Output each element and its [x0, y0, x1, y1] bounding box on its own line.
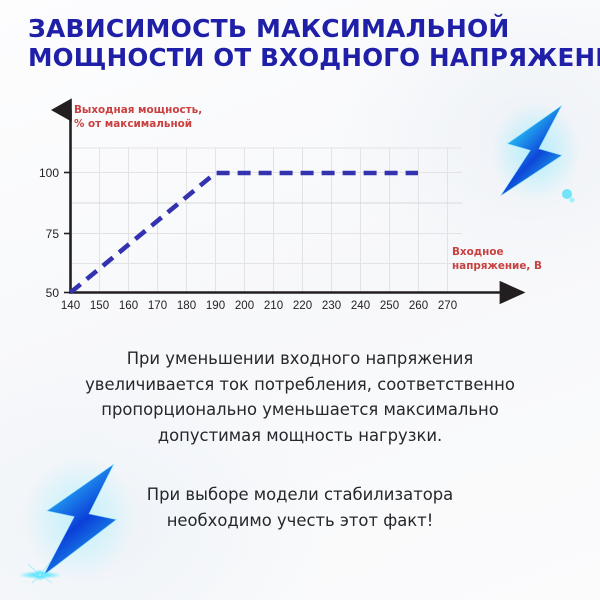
paragraph-1: При уменьшении входного напряжения увели… [0, 346, 600, 448]
x-tick-label: 160 [119, 300, 138, 312]
x-tick-label: 250 [380, 300, 399, 312]
x-tick-label: 180 [177, 300, 196, 312]
x-axis-label-line-2: напряжение, В [452, 260, 542, 274]
x-tick-label: 210 [264, 300, 283, 312]
x-tick-label: 260 [409, 300, 428, 312]
x-tick-label: 220 [293, 300, 312, 312]
paragraph-1-line: увеличивается ток потребления, соответст… [0, 372, 600, 398]
paragraph-1-line: пропорционально уменьшается максимально [0, 397, 600, 423]
x-tick-label: 190 [206, 300, 225, 312]
x-tick-label: 240 [351, 300, 370, 312]
y-axis-label-line-1: Выходная мощность, [74, 104, 202, 118]
paragraph-1-line: При уменьшении входного напряжения [0, 346, 600, 372]
x-tick-label: 170 [148, 300, 167, 312]
x-axis-label-line-1: Входное [452, 246, 542, 260]
x-axis-label: Входное напряжение, В [452, 246, 542, 273]
x-tick-label: 270 [438, 300, 457, 312]
grid-vertical [100, 148, 448, 293]
chart-svg: 100 75 50 140 150 160 170 180 190 200 21… [0, 96, 600, 331]
title-line-1: ЗАВИСИМОСТЬ МАКСИМАЛЬНОЙ [28, 14, 584, 43]
x-tick-label: 230 [322, 300, 341, 312]
paragraph-2-line: необходимо учесть этот факт! [0, 508, 600, 534]
y-axis-label: Выходная мощность, % от максимальной [74, 104, 202, 131]
y-tick-label: 100 [39, 166, 59, 180]
y-axis-label-line-2: % от максимальной [74, 118, 202, 132]
x-tick-label: 140 [61, 300, 80, 312]
power-vs-voltage-chart: 100 75 50 140 150 160 170 180 190 200 21… [0, 96, 600, 331]
y-tick-label: 50 [46, 286, 60, 300]
x-tick-label: 150 [90, 300, 109, 312]
poster-canvas: ЗАВИСИМОСТЬ МАКСИМАЛЬНОЙ МОЩНОСТИ ОТ ВХО… [0, 0, 600, 600]
y-tick-marks [64, 173, 70, 293]
y-tick-label: 75 [46, 227, 60, 241]
paragraph-1-line: допустимая мощность нагрузки. [0, 423, 600, 449]
paragraph-2-line: При выборе модели стабилизатора [0, 482, 600, 508]
x-tick-label: 200 [235, 300, 254, 312]
title-line-2: МОЩНОСТИ ОТ ВХОДНОГО НАПРЯЖЕНИЯ [28, 43, 584, 72]
page-title: ЗАВИСИМОСТЬ МАКСИМАЛЬНОЙ МОЩНОСТИ ОТ ВХО… [28, 14, 584, 72]
paragraph-2: При выборе модели стабилизатора необходи… [0, 482, 600, 533]
